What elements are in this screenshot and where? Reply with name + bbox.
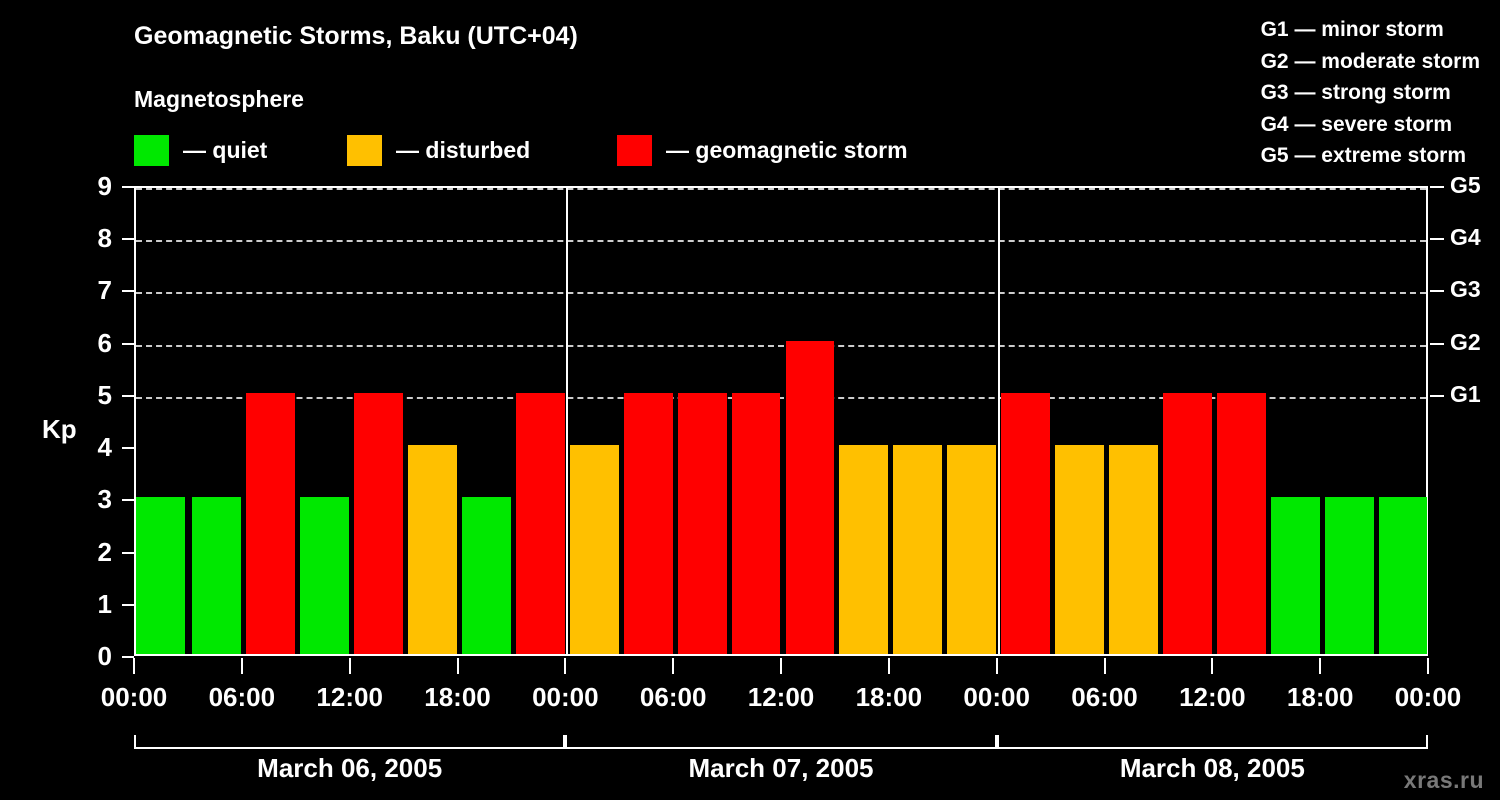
x-tick-label-9: 06:00	[1045, 682, 1165, 712]
x-tick-label-7: 18:00	[829, 682, 949, 712]
kp-bar[interactable]	[136, 497, 185, 654]
kp-bar[interactable]	[786, 341, 835, 654]
kp-bar[interactable]	[893, 445, 942, 654]
kp-bar[interactable]	[462, 497, 511, 654]
kp-bar[interactable]	[1163, 393, 1212, 654]
y-tick-label-0: 0	[72, 643, 112, 669]
g-tick-mark-G4	[1430, 238, 1444, 240]
day-label-2: March 07, 2005	[565, 752, 996, 784]
y-tick-label-3: 3	[72, 486, 112, 512]
kp-bar[interactable]	[1001, 393, 1050, 654]
x-tick-label-3: 18:00	[398, 682, 518, 712]
g-tick-label-G1: G1	[1450, 383, 1481, 406]
kp-bar[interactable]	[300, 497, 349, 654]
y-tick-mark-1	[122, 604, 134, 606]
y-axis-title: Kp	[42, 414, 77, 445]
day-divider-1	[566, 188, 568, 654]
y-tick-label-4: 4	[72, 434, 112, 460]
page-title: Geomagnetic Storms, Baku (UTC+04)	[134, 22, 578, 51]
x-tick-mark-5	[672, 658, 674, 674]
x-tick-label-5: 06:00	[613, 682, 733, 712]
kp-bar[interactable]	[732, 393, 781, 654]
g-tick-label-G4: G4	[1450, 226, 1481, 249]
kp-bar[interactable]	[246, 393, 295, 654]
legend-item-quiet: — quiet	[134, 135, 267, 166]
kp-bar[interactable]	[1055, 445, 1104, 654]
y-tick-mark-9	[122, 186, 134, 188]
kp-bar[interactable]	[354, 393, 403, 654]
g-tick-label-G3: G3	[1450, 278, 1481, 301]
y-tick-mark-5	[122, 395, 134, 397]
x-tick-label-2: 12:00	[290, 682, 410, 712]
x-tick-label-6: 12:00	[721, 682, 841, 712]
day-bracket-1	[134, 735, 565, 749]
gscale-line-5: G5 — extreme storm	[1261, 140, 1480, 172]
y-tick-label-8: 8	[72, 225, 112, 251]
x-tick-mark-4	[564, 658, 566, 674]
legend-swatch-quiet-icon	[134, 135, 169, 166]
x-tick-mark-1	[241, 658, 243, 674]
day-label-3: March 08, 2005	[997, 752, 1428, 784]
y-tick-label-2: 2	[72, 539, 112, 565]
magnetosphere-heading: Magnetosphere	[134, 86, 304, 113]
kp-bar[interactable]	[408, 445, 457, 654]
y-tick-label-5: 5	[72, 382, 112, 408]
x-tick-mark-7	[888, 658, 890, 674]
x-tick-label-0: 00:00	[74, 682, 194, 712]
g-tick-mark-G2	[1430, 343, 1444, 345]
x-tick-mark-8	[996, 658, 998, 674]
y-tick-mark-3	[122, 499, 134, 501]
y-tick-mark-2	[122, 552, 134, 554]
x-tick-mark-2	[349, 658, 351, 674]
kp-bar[interactable]	[1271, 497, 1320, 654]
g-tick-label-G2: G2	[1450, 331, 1481, 354]
kp-bar[interactable]	[947, 445, 996, 654]
kp-bar[interactable]	[570, 445, 619, 654]
legend-swatch-storm-icon	[617, 135, 652, 166]
day-label-1: March 06, 2005	[134, 752, 565, 784]
legend-label-quiet: — quiet	[183, 137, 267, 164]
x-tick-label-11: 18:00	[1260, 682, 1380, 712]
x-tick-label-12: 00:00	[1368, 682, 1488, 712]
gscale-line-3: G3 — strong storm	[1261, 77, 1480, 109]
kp-bar[interactable]	[678, 393, 727, 654]
y-tick-label-7: 7	[72, 277, 112, 303]
g-tick-mark-G5	[1430, 186, 1444, 188]
legend-item-disturbed: — disturbed	[347, 135, 530, 166]
y-tick-label-9: 9	[72, 173, 112, 199]
g-tick-mark-G3	[1430, 290, 1444, 292]
y-tick-mark-8	[122, 238, 134, 240]
kp-bar[interactable]	[192, 497, 241, 654]
x-tick-mark-3	[457, 658, 459, 674]
g-tick-mark-G1	[1430, 395, 1444, 397]
day-bracket-3	[997, 735, 1428, 749]
plot-inner	[136, 188, 1426, 654]
g-tick-label-G5: G5	[1450, 174, 1481, 197]
legend-swatch-disturbed-icon	[347, 135, 382, 166]
x-tick-label-10: 12:00	[1152, 682, 1272, 712]
legend-label-storm: — geomagnetic storm	[666, 137, 908, 164]
x-tick-label-1: 06:00	[182, 682, 302, 712]
y-tick-label-6: 6	[72, 330, 112, 356]
x-tick-mark-6	[780, 658, 782, 674]
gscale-line-4: G4 — severe storm	[1261, 109, 1480, 141]
legend-label-disturbed: — disturbed	[396, 137, 530, 164]
day-divider-2	[998, 188, 1000, 654]
kp-bar[interactable]	[1217, 393, 1266, 654]
x-tick-label-8: 00:00	[937, 682, 1057, 712]
y-tick-mark-7	[122, 290, 134, 292]
kp-bar[interactable]	[839, 445, 888, 654]
x-tick-mark-11	[1319, 658, 1321, 674]
x-tick-mark-12	[1427, 658, 1429, 674]
kp-bar[interactable]	[1109, 445, 1158, 654]
kp-bar[interactable]	[1325, 497, 1374, 654]
gscale-line-1: G1 — minor storm	[1261, 14, 1480, 46]
y-tick-mark-6	[122, 343, 134, 345]
x-tick-label-4: 00:00	[505, 682, 625, 712]
legend-item-storm: — geomagnetic storm	[617, 135, 908, 166]
x-tick-mark-9	[1104, 658, 1106, 674]
kp-bar[interactable]	[1379, 497, 1428, 654]
gscale-legend: G1 — minor stormG2 — moderate stormG3 — …	[1261, 14, 1480, 172]
x-tick-mark-10	[1211, 658, 1213, 674]
kp-bar[interactable]	[624, 393, 673, 654]
kp-bar[interactable]	[516, 393, 565, 654]
day-bracket-2	[565, 735, 996, 749]
gscale-line-2: G2 — moderate storm	[1261, 46, 1480, 78]
y-tick-label-1: 1	[72, 591, 112, 617]
x-tick-mark-0	[133, 658, 135, 674]
plot-area	[134, 186, 1428, 656]
bars-container	[136, 188, 1426, 654]
y-tick-mark-4	[122, 447, 134, 449]
watermark: xras.ru	[1404, 767, 1484, 794]
